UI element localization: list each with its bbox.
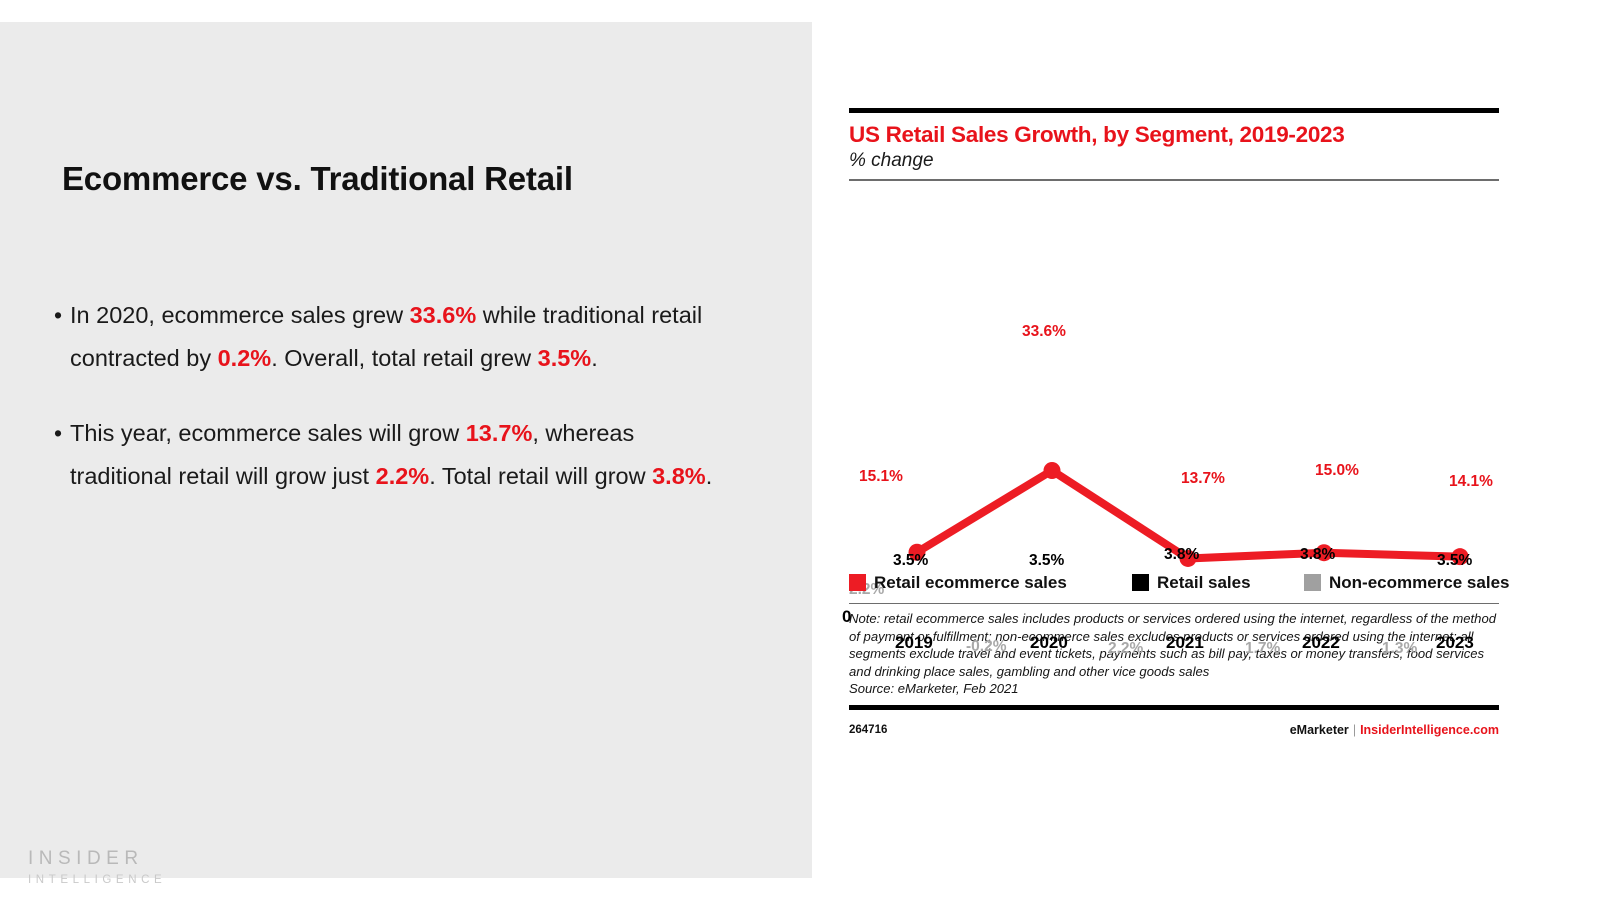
bottom-rule	[849, 705, 1499, 710]
bullet-segment: . Total retail will grow	[429, 463, 652, 489]
x-axis-tick-2019: 2019	[895, 633, 933, 653]
plot-area: 15.1%33.6%13.7%15.0%14.1%3.5%3.5%3.8%3.8…	[849, 181, 1499, 571]
data-label-nonecom-2023: 1.3%	[1382, 640, 1417, 658]
footer-site-link[interactable]: InsiderIntelligence.com	[1360, 723, 1499, 737]
insider-intelligence-logo: INSIDER INTELLIGENCE	[28, 848, 166, 886]
legend-label: Retail sales	[1157, 573, 1251, 593]
legend-swatch-icon	[1304, 574, 1321, 591]
chart-subtitle: % change	[849, 150, 1499, 172]
legend-label: Non-ecommerce sales	[1329, 573, 1509, 593]
x-axis-tick-2021: 2021	[1166, 633, 1204, 653]
logo-line-insider: INSIDER	[28, 848, 166, 870]
chart-footer: 264716 eMarketer|InsiderIntelligence.com	[849, 717, 1499, 743]
highlight-value: 3.8%	[652, 463, 706, 489]
data-label-retail-2023: 3.5%	[1437, 552, 1472, 570]
bullet-marker: •	[46, 294, 70, 337]
data-label-ecommerce-2021: 13.7%	[1181, 470, 1225, 488]
bullet-list: • In 2020, ecommerce sales grew 33.6% wh…	[46, 294, 726, 530]
chart-title: US Retail Sales Growth, by Segment, 2019…	[849, 122, 1499, 148]
data-point	[1044, 461, 1061, 478]
x-axis-tick-2020: 2020	[1030, 633, 1068, 653]
logo-line-intelligence: INTELLIGENCE	[28, 874, 166, 886]
highlight-value: 33.6%	[410, 302, 477, 328]
bullet-segment: This year, ecommerce sales will grow	[70, 420, 466, 446]
data-label-retail-2022: 3.8%	[1300, 546, 1335, 564]
chart-id: 264716	[849, 724, 887, 736]
list-item: • This year, ecommerce sales will grow 1…	[46, 412, 726, 498]
chart-source: Source: eMarketer, Feb 2021	[849, 680, 1499, 698]
highlight-value: 2.2%	[376, 463, 430, 489]
chart-card: US Retail Sales Growth, by Segment, 2019…	[849, 108, 1499, 773]
line-chart-svg	[849, 181, 1499, 571]
data-label-retail-2021: 3.8%	[1164, 546, 1199, 564]
chart-legend: Retail ecommerce salesRetail salesNon-ec…	[849, 573, 1499, 603]
top-rule	[849, 108, 1499, 113]
data-label-ecommerce-2023: 14.1%	[1449, 473, 1493, 491]
legend-swatch-icon	[849, 574, 866, 591]
bullet-segment: .	[706, 463, 713, 489]
x-axis-tick-2022: 2022	[1302, 633, 1340, 653]
data-label-ecommerce-2019: 15.1%	[859, 468, 903, 486]
footer-brand-name: eMarketer	[1290, 723, 1349, 737]
highlight-value: 0.2%	[218, 345, 272, 371]
bullet-text: In 2020, ecommerce sales grew 33.6% whil…	[70, 294, 726, 380]
footer-separator: |	[1349, 723, 1360, 737]
bullet-segment: .	[591, 345, 598, 371]
data-label-nonecom-2022: 1.7%	[1245, 640, 1280, 658]
legend-swatch-icon	[1132, 574, 1149, 591]
data-label-retail-2019: 3.5%	[893, 552, 928, 570]
bullet-marker: •	[46, 412, 70, 455]
bullet-text: This year, ecommerce sales will grow 13.…	[70, 412, 726, 498]
legend-item-2[interactable]: Non-ecommerce sales	[1304, 573, 1509, 593]
list-item: • In 2020, ecommerce sales grew 33.6% wh…	[46, 294, 726, 380]
data-label-ecommerce-2020: 33.6%	[1022, 323, 1066, 341]
x-axis-tick-2023: 2023	[1436, 633, 1474, 653]
highlight-value: 3.5%	[538, 345, 592, 371]
footer-branding: eMarketer|InsiderIntelligence.com	[1290, 723, 1499, 737]
data-label-nonecom-2020: -0.2%	[966, 638, 1007, 656]
legend-item-0[interactable]: Retail ecommerce sales	[849, 573, 1067, 593]
bullet-segment: In 2020, ecommerce sales grew	[70, 302, 410, 328]
data-label-nonecom-2021: 2.2%	[1108, 640, 1143, 658]
page-title: Ecommerce vs. Traditional Retail	[62, 160, 762, 198]
data-label-retail-2020: 3.5%	[1029, 552, 1064, 570]
bullet-segment: . Overall, total retail grew	[271, 345, 537, 371]
legend-label: Retail ecommerce sales	[874, 573, 1067, 593]
data-label-ecommerce-2022: 15.0%	[1315, 462, 1359, 480]
note-rule	[849, 603, 1499, 605]
axis-zero-label: 0	[842, 607, 851, 627]
left-content-panel: Ecommerce vs. Traditional Retail • In 20…	[0, 22, 812, 878]
legend-item-1[interactable]: Retail sales	[1132, 573, 1251, 593]
highlight-value: 13.7%	[466, 420, 533, 446]
